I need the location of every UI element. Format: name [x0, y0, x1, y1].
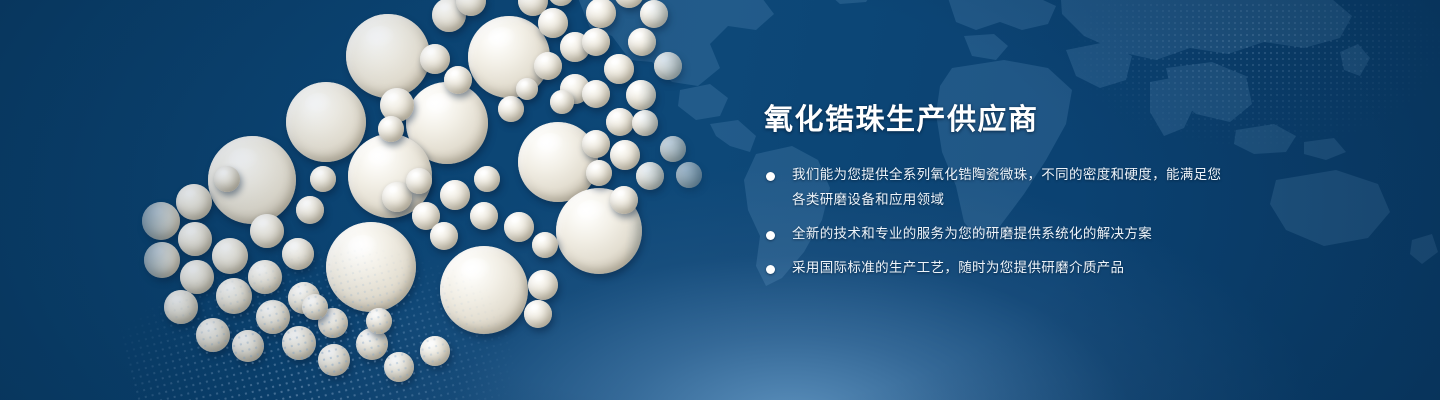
filled-circle-icon	[766, 231, 775, 240]
filled-circle-icon	[766, 265, 775, 274]
hero-banner: 氧化锆珠生产供应商 我们能为您提供全系列氧化锆陶瓷微珠，不同的密度和硬度，能满足…	[0, 0, 1440, 400]
list-item: 全新的技术和专业的服务为您的研磨提供系统化的解决方案	[764, 222, 1234, 247]
list-item-label: 全新的技术和专业的服务为您的研磨提供系统化的解决方案	[792, 226, 1152, 241]
list-item-label: 采用国际标准的生产工艺，随时为您提供研磨介质产品	[792, 260, 1124, 275]
banner-content: 氧化锆珠生产供应商 我们能为您提供全系列氧化锆陶瓷微珠，不同的密度和硬度，能满足…	[764, 104, 1234, 281]
filled-circle-icon	[766, 172, 775, 181]
list-item-label: 我们能为您提供全系列氧化锆陶瓷微珠，不同的密度和硬度，能满足您各类研磨设备和应用…	[792, 167, 1221, 207]
page-title: 氧化锆珠生产供应商	[764, 104, 1234, 137]
list-item: 我们能为您提供全系列氧化锆陶瓷微珠，不同的密度和硬度，能满足您各类研磨设备和应用…	[764, 163, 1234, 213]
feature-list: 我们能为您提供全系列氧化锆陶瓷微珠，不同的密度和硬度，能满足您各类研磨设备和应用…	[764, 163, 1234, 281]
list-item: 采用国际标准的生产工艺，随时为您提供研磨介质产品	[764, 256, 1234, 281]
